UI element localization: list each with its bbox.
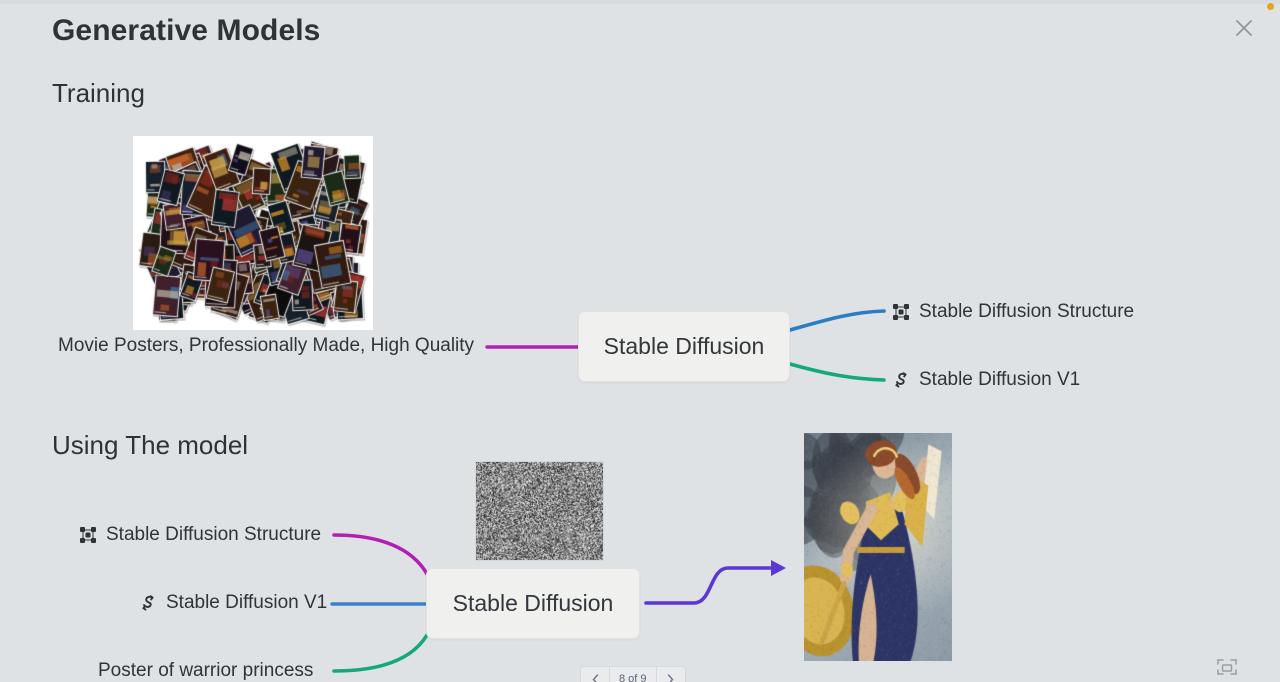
- wire-training-structure: [790, 311, 884, 330]
- node-stable-diffusion-training[interactable]: Stable Diffusion: [578, 311, 790, 382]
- label-text: Poster of warrior princess: [98, 660, 313, 682]
- fullscreen-icon[interactable]: [1216, 658, 1238, 676]
- swirl-s-icon: [138, 593, 158, 613]
- slide-canvas: Generative Models Training Using The mod…: [0, 0, 1280, 682]
- movie-poster-collage-image: [133, 136, 373, 330]
- label-output-structure[interactable]: Stable Diffusion Structure: [891, 301, 1134, 323]
- prev-slide-button[interactable]: [581, 667, 609, 682]
- section-heading-training: Training: [52, 78, 145, 109]
- network-nodes-icon: [891, 302, 911, 322]
- label-input-prompt: Poster of warrior princess: [98, 660, 313, 682]
- label-text: Movie Posters, Professionally Made, High…: [58, 335, 474, 357]
- label-output-v1[interactable]: Stable Diffusion V1: [891, 369, 1080, 391]
- label-text: Stable Diffusion Structure: [106, 524, 321, 546]
- generated-warrior-princess-image: [804, 433, 952, 661]
- section-heading-using: Using The model: [52, 430, 248, 461]
- label-text: Stable Diffusion V1: [919, 369, 1080, 391]
- label-training-input: Movie Posters, Professionally Made, High…: [58, 335, 474, 357]
- network-nodes-icon: [78, 525, 98, 545]
- node-label: Stable Diffusion: [604, 333, 765, 360]
- window-top-strip: [0, 0, 1280, 4]
- page-title: Generative Models: [52, 14, 320, 48]
- label-text: Stable Diffusion Structure: [919, 301, 1134, 323]
- wire-using-output: [646, 568, 772, 603]
- page-indicator: 8 of 9: [610, 667, 656, 682]
- random-noise-latent-image: [475, 461, 604, 561]
- slide-pager[interactable]: 8 of 9: [580, 666, 686, 682]
- node-label: Stable Diffusion: [453, 590, 614, 617]
- wire-using-structure: [334, 535, 427, 574]
- arrowhead-icon: [771, 560, 786, 576]
- status-dot: [1267, 3, 1274, 10]
- wire-training-v1: [790, 364, 884, 380]
- next-slide-button[interactable]: [657, 667, 685, 682]
- label-text: Stable Diffusion V1: [166, 592, 327, 614]
- close-icon[interactable]: [1232, 16, 1256, 40]
- wire-using-prompt: [334, 635, 427, 671]
- swirl-s-icon: [891, 370, 911, 390]
- label-input-structure[interactable]: Stable Diffusion Structure: [78, 524, 321, 546]
- label-input-v1[interactable]: Stable Diffusion V1: [138, 592, 327, 614]
- node-stable-diffusion-using[interactable]: Stable Diffusion: [426, 568, 640, 639]
